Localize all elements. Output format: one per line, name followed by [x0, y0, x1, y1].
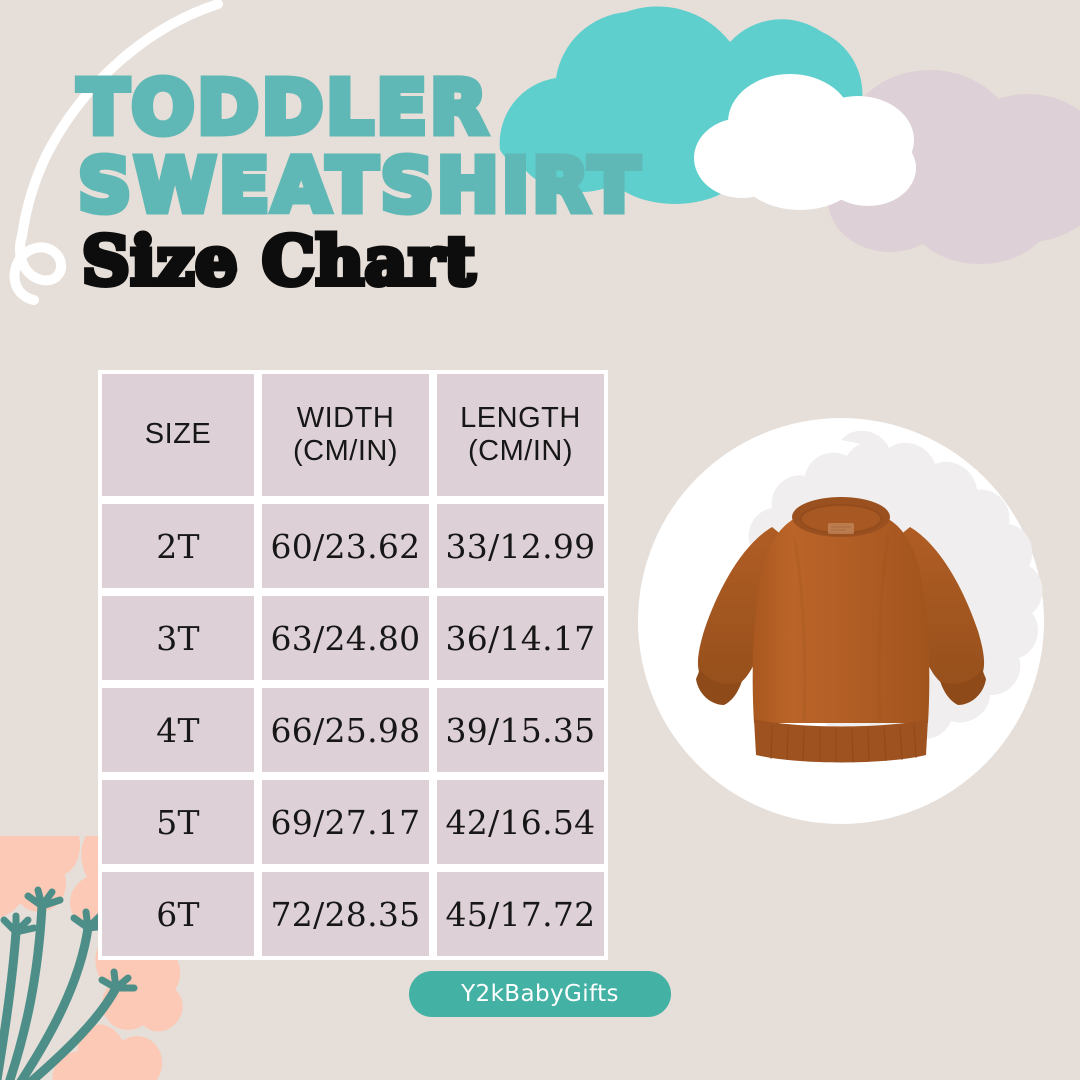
column-header-width-unit: (CM/IN) — [262, 435, 429, 468]
title-line-1: TODDLER — [78, 74, 798, 142]
sweatshirt-product-image — [676, 479, 1006, 779]
page-title: TODDLER SWEATSHIRT Size Chart — [78, 74, 798, 294]
column-header-length-unit: (CM/IN) — [437, 435, 604, 468]
brand-label: Y2kBabyGifts — [461, 981, 619, 1007]
cell-width: 63/24.80 — [258, 592, 433, 684]
column-header-width-main: WIDTH — [297, 402, 395, 434]
cell-length: 33/12.99 — [433, 500, 608, 592]
column-header-size: SIZE — [98, 370, 258, 500]
size-chart-canvas: TODDLER SWEATSHIRT Size Chart SIZE WIDTH… — [0, 0, 1080, 1080]
cell-length: 42/16.54 — [433, 776, 608, 868]
title-line-3: Size Chart — [82, 228, 798, 294]
mauve-cloud-icon — [828, 70, 1080, 264]
cell-length: 36/14.17 — [433, 592, 608, 684]
cell-size: 3T — [98, 592, 258, 684]
table-row: 3T 63/24.80 36/14.17 — [98, 592, 608, 684]
column-header-length-main: LENGTH — [460, 402, 581, 434]
table-row: 2T 60/23.62 33/12.99 — [98, 500, 608, 592]
cell-size: 6T — [98, 868, 258, 960]
table-header-row: SIZE WIDTH (CM/IN) LENGTH (CM/IN) — [98, 370, 608, 500]
cell-width: 66/25.98 — [258, 684, 433, 776]
table-header: SIZE WIDTH (CM/IN) LENGTH (CM/IN) — [98, 370, 608, 500]
cell-length: 39/15.35 — [433, 684, 608, 776]
cell-length: 45/17.72 — [433, 868, 608, 960]
title-line-2: SWEATSHIRT — [78, 152, 798, 220]
cell-width: 69/27.17 — [258, 776, 433, 868]
table-row: 5T 69/27.17 42/16.54 — [98, 776, 608, 868]
table-row: 4T 66/25.98 39/15.35 — [98, 684, 608, 776]
cell-width: 72/28.35 — [258, 868, 433, 960]
table-row: 6T 72/28.35 45/17.72 — [98, 868, 608, 960]
cell-width: 60/23.62 — [258, 500, 433, 592]
size-chart-table: SIZE WIDTH (CM/IN) LENGTH (CM/IN) 2T 60/… — [98, 370, 608, 960]
product-image-medallion — [636, 416, 1046, 826]
neck-tag-icon — [828, 523, 854, 534]
cell-size: 5T — [98, 776, 258, 868]
column-header-length: LENGTH (CM/IN) — [433, 370, 608, 500]
loop-curl-icon — [15, 236, 62, 300]
cell-size: 4T — [98, 684, 258, 776]
brand-badge[interactable]: Y2kBabyGifts — [409, 971, 671, 1017]
column-header-width: WIDTH (CM/IN) — [258, 370, 433, 500]
table-body: 2T 60/23.62 33/12.99 3T 63/24.80 36/14.1… — [98, 500, 608, 960]
column-header-size-main: SIZE — [145, 418, 211, 450]
cell-size: 2T — [98, 500, 258, 592]
